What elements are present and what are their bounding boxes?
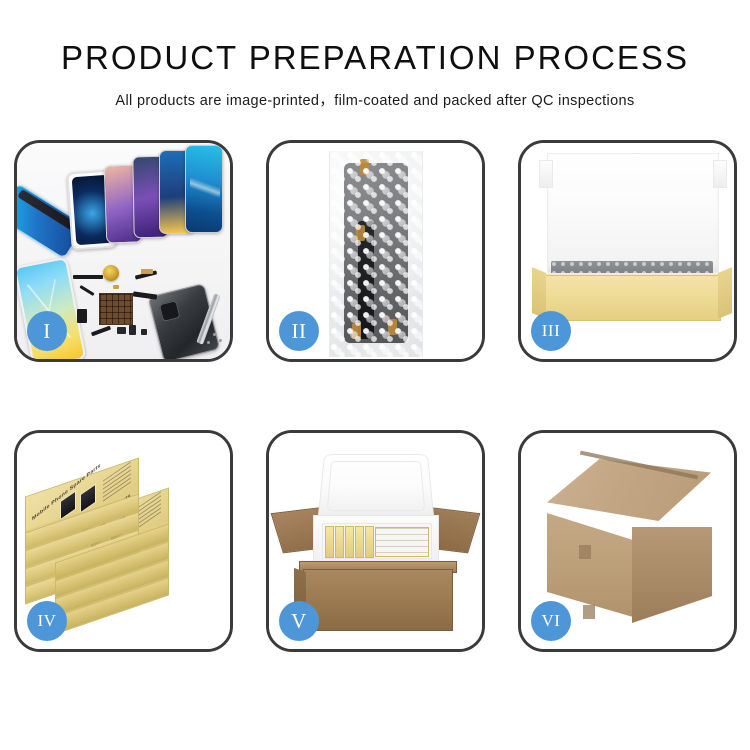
process-step-card-6[interactable]: VI <box>518 430 737 652</box>
yellow-box-upright-2 <box>335 526 344 558</box>
carton-side-face <box>632 527 712 623</box>
process-step-card-3[interactable]: III <box>518 140 737 362</box>
yellow-box-upright-4 <box>355 526 364 558</box>
flex-cable-6 <box>91 326 111 337</box>
step-badge-4: IV <box>27 601 67 641</box>
step-badge-5: V <box>279 601 319 641</box>
screw-3 <box>207 341 210 344</box>
gold-bracket-1 <box>141 269 153 274</box>
product-preparation-process-page: PRODUCT PREPARATION PROCESS All products… <box>0 0 750 750</box>
process-step-card-5[interactable]: V <box>266 430 485 652</box>
step-badge-6: VI <box>531 601 571 641</box>
step-badge-3: III <box>531 311 571 351</box>
carton-tape-patch-top <box>579 545 591 559</box>
chip-component-1 <box>117 327 126 334</box>
flex-cable-4 <box>133 291 157 299</box>
gold-coil-component <box>103 265 119 281</box>
screw-2 <box>219 339 222 342</box>
phone-display-4 <box>185 145 223 233</box>
white-box-lid <box>547 153 719 273</box>
yellow-box-flat-group <box>375 527 429 557</box>
process-step-card-2[interactable]: II <box>266 140 485 362</box>
chip-component-2 <box>129 325 136 335</box>
yellow-box-upright-5 <box>365 526 374 558</box>
yellow-box-upright-3 <box>345 526 354 558</box>
logic-board-grid <box>99 293 133 325</box>
page-subtitle: All products are image-printed，film-coat… <box>0 89 750 110</box>
foam-box-body <box>313 515 439 567</box>
carton-front-face <box>547 513 633 617</box>
foam-box-lid <box>318 454 435 520</box>
bubble-highlight-overlay <box>330 151 422 357</box>
page-title: PRODUCT PREPARATION PROCESS <box>0 38 750 78</box>
carton-tape-patch-bottom <box>583 605 595 619</box>
process-step-card-1[interactable]: I <box>14 140 233 362</box>
screw-1 <box>213 333 216 336</box>
flex-cable-1 <box>73 275 103 279</box>
carton-top-face <box>547 459 711 521</box>
foam-cavity <box>322 523 432 559</box>
chip-component-3 <box>141 329 147 335</box>
step-badge-2: II <box>279 311 319 351</box>
process-step-card-4[interactable]: Mobile Phone Spare Parts Mobile Phone Sp… <box>14 430 233 652</box>
yellow-box-front-panel <box>543 275 721 321</box>
flex-cable-3 <box>79 285 94 296</box>
step-badge-1: I <box>27 311 67 351</box>
process-steps-grid: I II <box>14 140 736 652</box>
gold-bracket-2 <box>113 285 119 289</box>
carton-body <box>303 569 453 631</box>
page-header: PRODUCT PREPARATION PROCESS All products… <box>0 0 750 110</box>
yellow-box-upright-1 <box>325 526 334 558</box>
bubble-wrap-bag <box>329 151 423 357</box>
flex-cable-5 <box>77 309 87 323</box>
